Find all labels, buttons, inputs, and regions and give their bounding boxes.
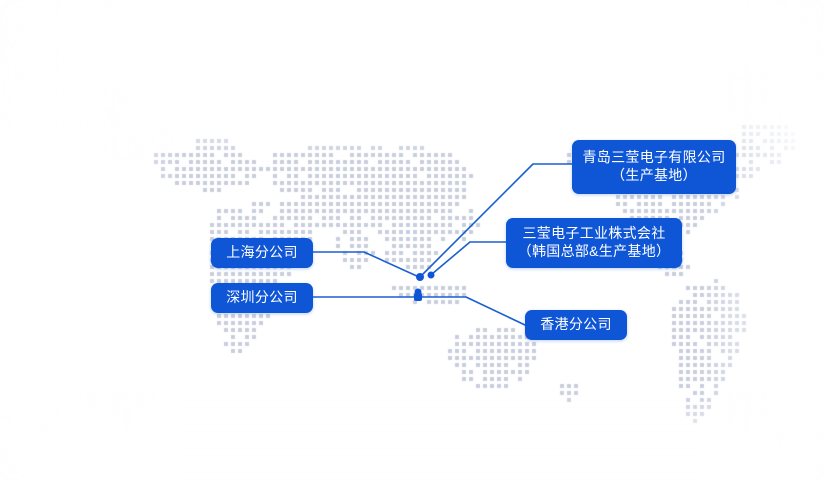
world-map-background [0, 0, 824, 480]
label-box-hongkong[interactable]: 香港分公司 [525, 310, 627, 340]
world-map-dots [0, 0, 824, 480]
label-box-korea-hq[interactable]: 三莹电子工业株式会社（韩国总部&生产基地） [506, 218, 682, 268]
label-line: 上海分公司 [226, 244, 298, 262]
infographic-canvas: 青岛三莹电子有限公司（生产基地）三莹电子工业株式会社（韩国总部&生产基地）上海分… [0, 0, 824, 480]
label-line: 青岛三莹电子有限公司 [583, 149, 726, 167]
label-box-qingdao[interactable]: 青岛三莹电子有限公司（生产基地） [572, 140, 736, 194]
label-line: 深圳分公司 [226, 289, 298, 307]
marker-korea[interactable] [428, 272, 435, 279]
marker-shenzhen[interactable] [414, 293, 422, 301]
label-line: 三莹电子工业株式会社 [523, 225, 666, 243]
label-box-shenzhen[interactable]: 深圳分公司 [211, 283, 313, 313]
label-line: （生产基地） [611, 167, 697, 185]
marker-qingdao[interactable] [416, 273, 424, 281]
label-line: （韩国总部&生产基地） [518, 243, 671, 261]
label-line: 香港分公司 [540, 316, 612, 334]
label-box-shanghai[interactable]: 上海分公司 [211, 238, 313, 268]
